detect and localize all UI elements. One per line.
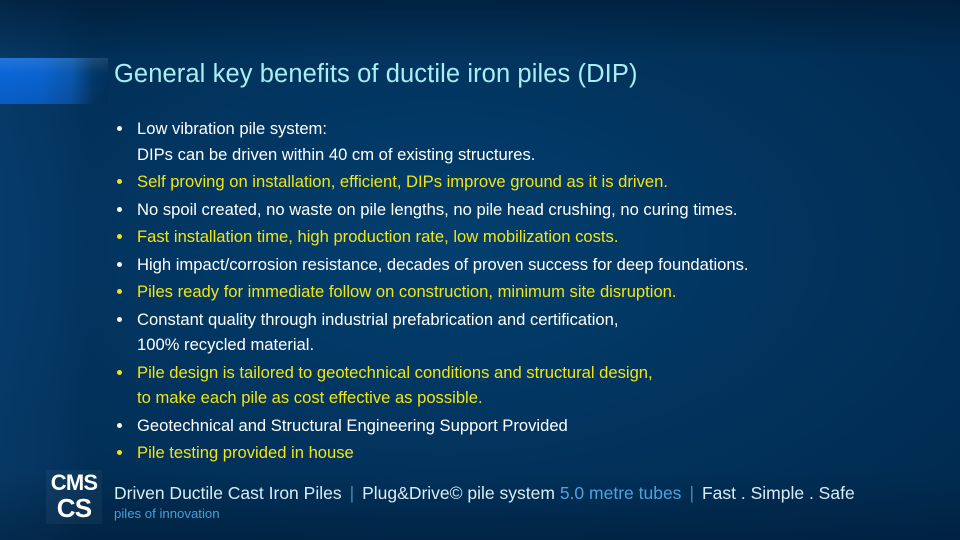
bullet-dot-icon (117, 234, 122, 239)
benefit-text-line-1: Constant quality through industrial pref… (137, 310, 619, 329)
bullet-dot-icon (117, 207, 122, 212)
benefit-text-line-1: No spoil created, no waste on pile lengt… (137, 200, 738, 219)
footer-part-products: Driven Ductile Cast Iron Piles (114, 483, 342, 503)
footer-part-system: Plug&Drive© pile system (362, 483, 555, 503)
slide-title: General key benefits of ductile iron pil… (114, 60, 638, 89)
bottom-shade-overlay (0, 470, 960, 540)
benefit-text-line-1: Piles ready for immediate follow on cons… (137, 282, 677, 301)
bullet-dot-icon (117, 126, 122, 131)
bullet-dot-icon (117, 317, 122, 322)
cmscs-logo: CMS CS (46, 470, 102, 524)
benefit-text-line-1: Fast installation time, high production … (137, 227, 618, 246)
benefit-item: Piles ready for immediate follow on cons… (112, 279, 912, 305)
bullet-dot-icon (117, 423, 122, 428)
slide-canvas: General key benefits of ductile iron pil… (0, 0, 960, 540)
benefit-item: Self proving on installation, efficient,… (112, 169, 912, 195)
logo-line-2: CS (46, 495, 102, 522)
benefit-item: Pile design is tailored to geotechnical … (112, 360, 912, 411)
benefit-item: High impact/corrosion resistance, decade… (112, 252, 912, 278)
bullet-dot-icon (117, 179, 122, 184)
title-accent-bar (0, 58, 108, 104)
bullet-dot-icon (117, 262, 122, 267)
bullet-dot-icon (117, 289, 122, 294)
footer-part-slogan: Fast . Simple . Safe (702, 483, 855, 503)
footer-highlight-tubes: 5.0 metre tubes (560, 483, 682, 503)
bullet-dot-icon (117, 370, 122, 375)
logo-line-1: CMS (46, 471, 102, 495)
benefit-item: Low vibration pile system:DIPs can be dr… (112, 116, 912, 167)
benefit-text-line-1: High impact/corrosion resistance, decade… (137, 255, 749, 274)
footer-strapline: Driven Ductile Cast Iron Piles|Plug&Driv… (114, 483, 855, 504)
benefit-text-line-1: Low vibration pile system: (137, 119, 327, 138)
footer-separator-2: | (681, 483, 702, 503)
bullet-dot-icon (117, 450, 122, 455)
benefit-text-line-1: Pile design is tailored to geotechnical … (137, 363, 653, 382)
benefit-text-line-2: 100% recycled material. (137, 332, 912, 358)
benefits-list: Low vibration pile system:DIPs can be dr… (112, 116, 912, 468)
benefit-item: Geotechnical and Structural Engineering … (112, 413, 912, 439)
benefit-text-line-1: Pile testing provided in house (137, 443, 354, 462)
benefit-item: Constant quality through industrial pref… (112, 307, 912, 358)
logo-tagline: piles of innovation (114, 506, 220, 521)
footer-separator-1: | (342, 483, 363, 503)
benefit-text-line-2: DIPs can be driven within 40 cm of exist… (137, 142, 912, 168)
benefit-text-line-1: Self proving on installation, efficient,… (137, 172, 668, 191)
benefit-text-line-2: to make each pile as cost effective as p… (137, 385, 912, 411)
benefit-text-line-1: Geotechnical and Structural Engineering … (137, 416, 568, 435)
top-shade-overlay (0, 0, 960, 58)
benefit-item: No spoil created, no waste on pile lengt… (112, 197, 912, 223)
benefit-item: Pile testing provided in house (112, 440, 912, 466)
benefit-item: Fast installation time, high production … (112, 224, 912, 250)
